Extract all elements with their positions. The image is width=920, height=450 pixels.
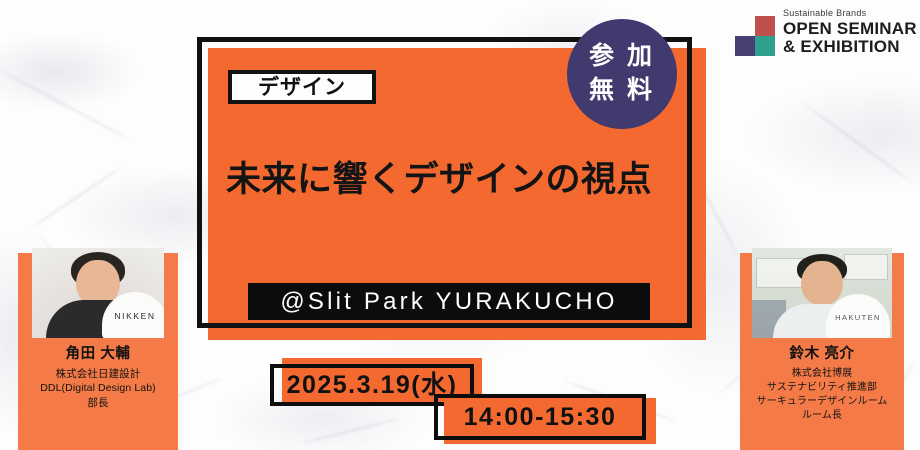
- marble-vein: [0, 69, 132, 141]
- logo-line-1: OPEN SEMINAR: [783, 20, 917, 37]
- portrait-face: [801, 261, 843, 305]
- marble-vein: [301, 418, 399, 444]
- badge-line-1: 参 加: [589, 40, 655, 74]
- logo-red-square-icon: [755, 16, 775, 36]
- logo-squares-icon: [735, 16, 775, 56]
- speaker-affiliation-left: 株式会社日建設計 DDL(Digital Design Lab) 部長: [40, 367, 156, 412]
- affiliation-line: サステナビリティ推進部: [757, 381, 888, 395]
- speaker-name-right: 鈴木 亮介: [789, 347, 854, 362]
- category-tag: デザイン: [228, 70, 376, 104]
- marble-vein: [801, 101, 915, 185]
- badge-line-2: 無 料: [589, 74, 655, 108]
- affiliation-line: 株式会社日建設計: [40, 367, 156, 382]
- logo-teal-square-icon: [755, 36, 775, 56]
- affiliation-line: ルーム長: [757, 409, 888, 423]
- affiliation-line: 株式会社博展: [757, 367, 888, 381]
- logo-purple-square-icon: [735, 36, 755, 56]
- affiliation-line: DDL(Digital Design Lab): [40, 381, 156, 396]
- affiliation-line: 部長: [40, 396, 156, 411]
- photo-shelf-detail: [844, 254, 888, 280]
- status-badge: 参 加 無 料: [567, 19, 677, 129]
- event-banner: Sustainable Brands OPEN SEMINAR & EXHIBI…: [0, 0, 920, 450]
- speaker-photo-right: HAKUTEN: [752, 248, 892, 338]
- marble-vein: [31, 165, 123, 228]
- speaker-name-left: 角田 大輔: [65, 347, 130, 362]
- open-seminar-logo: Sustainable Brands OPEN SEMINAR & EXHIBI…: [735, 9, 917, 56]
- logo-line-2: & EXHIBITION: [783, 38, 917, 55]
- speaker-photo-left: NIKKEN: [32, 248, 164, 338]
- affiliation-line: サーキュラーデザインルーム: [757, 395, 888, 409]
- page-title: 未来に響くデザインの視点: [226, 160, 686, 200]
- time-chip-label: 14:00-15:30: [434, 394, 646, 440]
- speaker-card-left: NIKKEN 角田 大輔 株式会社日建設計 DDL(Digital Design…: [18, 253, 178, 450]
- venue-bar: @Slit Park YURAKUCHO: [248, 283, 650, 320]
- logo-sub-label: Sustainable Brands: [783, 9, 917, 18]
- speaker-card-right: HAKUTEN 鈴木 亮介 株式会社博展 サステナビリティ推進部 サーキュラーデ…: [740, 253, 904, 450]
- logo-wordmark: Sustainable Brands OPEN SEMINAR & EXHIBI…: [783, 9, 917, 56]
- speaker-affiliation-right: 株式会社博展 サステナビリティ推進部 サーキュラーデザインルーム ルーム長: [757, 367, 888, 424]
